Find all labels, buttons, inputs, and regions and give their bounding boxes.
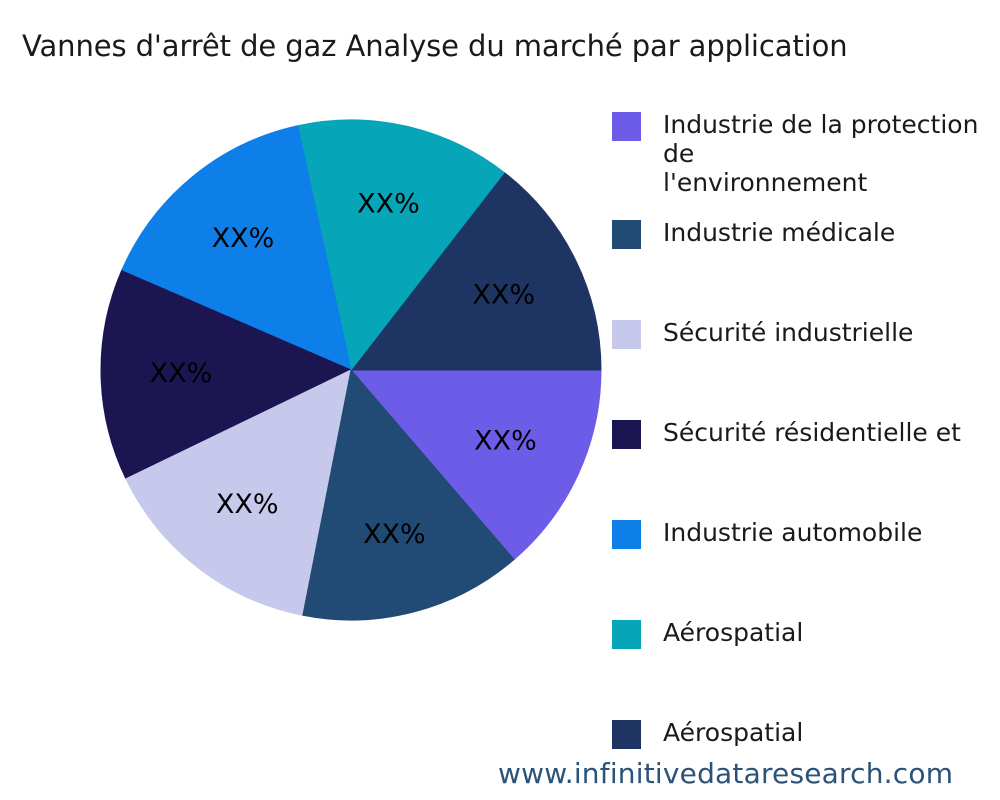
- pie-slice-label: XX%: [212, 223, 275, 254]
- legend-item-label: Sécurité résidentielle et: [663, 418, 961, 447]
- legend-color-swatch: [612, 420, 641, 449]
- legend-item-label: Industrie de la protection de l'environn…: [663, 110, 1000, 197]
- legend-item[interactable]: Industrie de la protection de l'environn…: [612, 110, 1000, 197]
- legend-item-label: Aérospatial: [663, 718, 803, 747]
- legend-color-swatch: [612, 220, 641, 249]
- legend-item[interactable]: Sécurité résidentielle et: [612, 418, 961, 449]
- pie-slice-label: XX%: [150, 358, 213, 389]
- pie-slice-label: XX%: [474, 425, 537, 456]
- pie-slice-label: XX%: [472, 280, 535, 311]
- pie-slice-label: XX%: [357, 189, 420, 220]
- legend-item-label: Industrie automobile: [663, 518, 922, 547]
- legend-color-swatch: [612, 320, 641, 349]
- pie-chart: XX%XX%XX%XX%XX%XX%XX%: [0, 0, 620, 700]
- pie-slice-label: XX%: [363, 519, 426, 550]
- legend-item-label: Industrie médicale: [663, 218, 895, 247]
- pie-chart-svg: XX%XX%XX%XX%XX%XX%XX%: [0, 0, 620, 700]
- legend-item-label: Aérospatial: [663, 618, 803, 647]
- legend-color-swatch: [612, 620, 641, 649]
- legend-color-swatch: [612, 720, 641, 749]
- legend-color-swatch: [612, 112, 641, 141]
- legend-item-label: Sécurité industrielle: [663, 318, 913, 347]
- legend: Industrie de la protection de l'environn…: [612, 110, 1000, 770]
- legend-item[interactable]: Aérospatial: [612, 618, 803, 649]
- legend-item[interactable]: Sécurité industrielle: [612, 318, 913, 349]
- source-url[interactable]: www.infinitivedataresearch.com: [498, 757, 953, 790]
- legend-item[interactable]: Aérospatial: [612, 718, 803, 749]
- legend-item[interactable]: Industrie automobile: [612, 518, 922, 549]
- chart-page: Vannes d'arrêt de gaz Analyse du marché …: [0, 0, 1000, 800]
- pie-slice-label: XX%: [216, 489, 279, 520]
- legend-item[interactable]: Industrie médicale: [612, 218, 895, 249]
- legend-color-swatch: [612, 520, 641, 549]
